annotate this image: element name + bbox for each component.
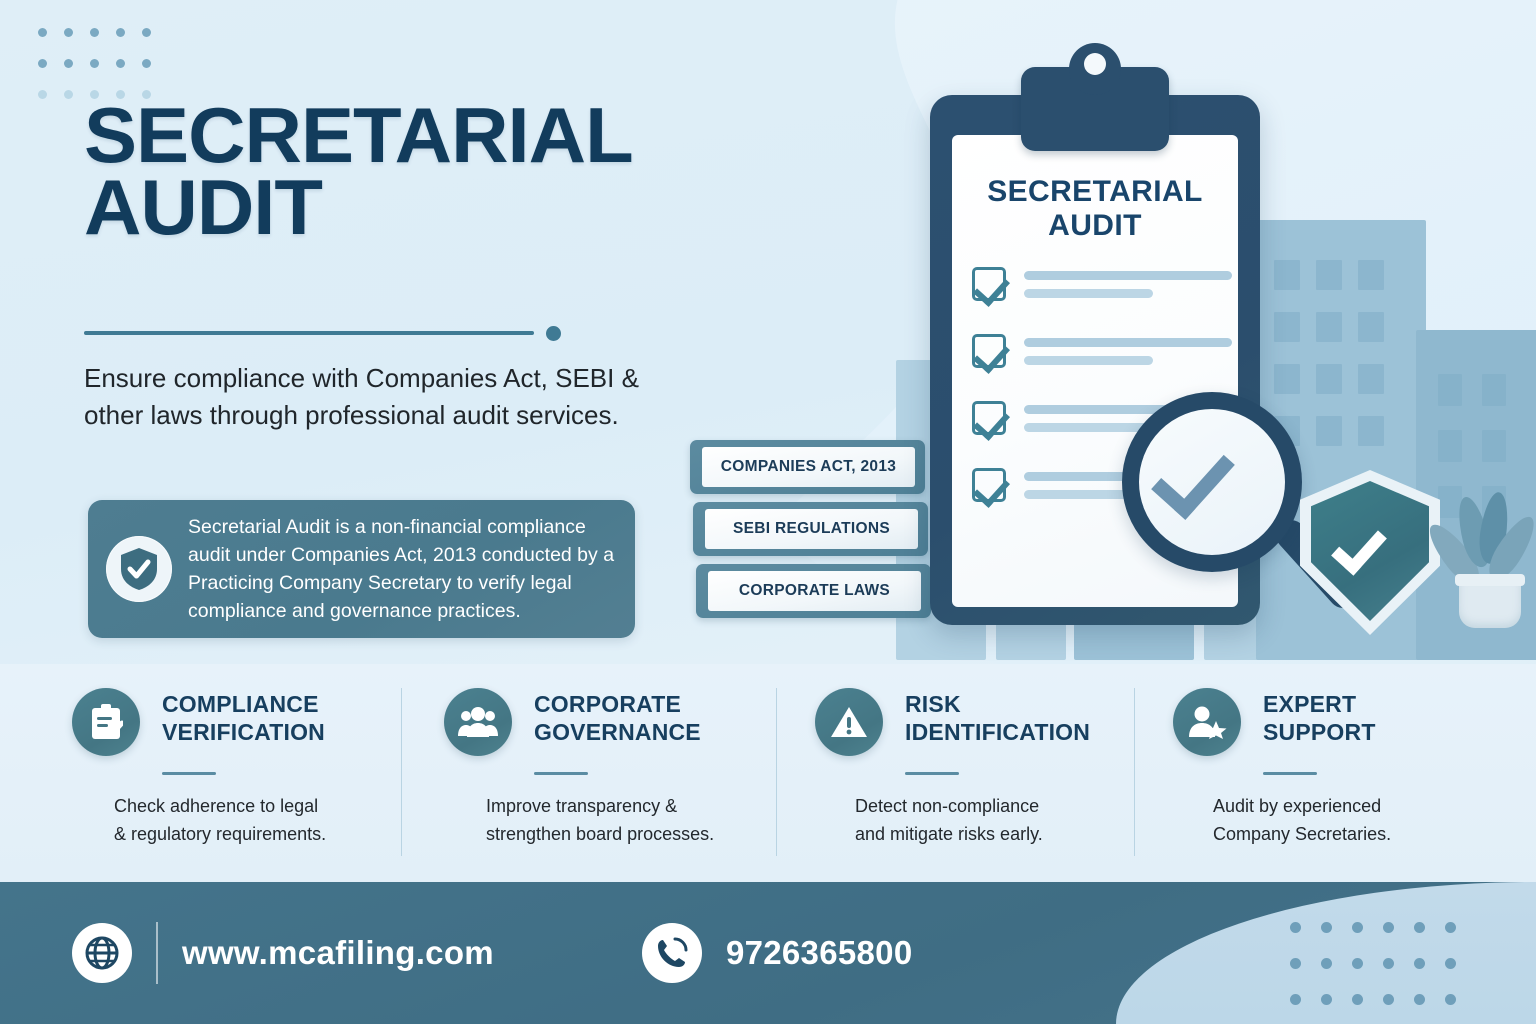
- footer-bar: www.mcafiling.com 9726365800: [0, 882, 1536, 1024]
- people-group-icon: [444, 688, 512, 756]
- plant-pot: [1459, 582, 1521, 628]
- title-divider-line: [84, 331, 534, 335]
- shield-check-icon: [106, 536, 172, 602]
- feature-description: Audit by experienced Company Secretaries…: [1213, 793, 1515, 849]
- feature-title: COMPLIANCE VERIFICATION: [162, 688, 325, 746]
- feature-card-compliance-verification: COMPLIANCE VERIFICATION Check adherence …: [0, 664, 402, 849]
- definition-callout-text: Secretarial Audit is a non-financial com…: [188, 513, 615, 625]
- feature-title-line1: CORPORATE: [534, 691, 681, 717]
- book-label: COMPANIES ACT, 2013: [721, 458, 896, 476]
- feature-title-line2: GOVERNANCE: [534, 719, 701, 745]
- subheadline: Ensure compliance with Companies Act, SE…: [84, 360, 644, 434]
- potted-plant-icon: [1435, 478, 1535, 628]
- footer-separator: [156, 922, 158, 984]
- title-divider: [84, 326, 554, 340]
- feature-title-line2: VERIFICATION: [162, 719, 325, 745]
- feature-desc-line2: strengthen board processes.: [486, 824, 714, 844]
- footer-phone[interactable]: 9726365800: [642, 923, 913, 983]
- footer-website[interactable]: www.mcafiling.com: [72, 922, 494, 984]
- feature-card-expert-support: EXPERT SUPPORT Audit by experienced Comp…: [1135, 664, 1515, 849]
- feature-title-line2: SUPPORT: [1263, 719, 1376, 745]
- poster-canvas: SECRETARIAL AUDIT Ensure compliance with…: [0, 0, 1536, 1024]
- feature-title-line1: COMPLIANCE: [162, 691, 319, 717]
- clipboard-title: SECRETARIAL AUDIT: [930, 175, 1260, 242]
- feature-desc-line1: Improve transparency &: [486, 796, 677, 816]
- feature-underline: [1263, 772, 1317, 775]
- book-item: COMPANIES ACT, 2013: [690, 440, 925, 494]
- checklist-placeholder-lines: [1024, 267, 1232, 307]
- clipboard-clamp-icon: [1021, 67, 1169, 151]
- feature-title-line1: RISK: [905, 691, 961, 717]
- checklist-row: [972, 334, 1232, 374]
- definition-callout: Secretarial Audit is a non-financial com…: [88, 500, 635, 638]
- feature-underline: [534, 772, 588, 775]
- checkbox-checked-icon: [972, 401, 1006, 435]
- feature-desc-line2: and mitigate risks early.: [855, 824, 1043, 844]
- decorative-dot-grid-footer: [1290, 922, 1476, 1024]
- clipboard-title-line1: SECRETARIAL: [987, 175, 1203, 208]
- feature-desc-line1: Detect non-compliance: [855, 796, 1039, 816]
- checklist-placeholder-lines: [1024, 334, 1232, 374]
- feature-title: CORPORATE GOVERNANCE: [534, 688, 701, 746]
- feature-title-line2: IDENTIFICATION: [905, 719, 1090, 745]
- footer-website-text[interactable]: www.mcafiling.com: [182, 934, 494, 972]
- feature-title: EXPERT SUPPORT: [1263, 688, 1376, 746]
- clipboard-check-icon: [72, 688, 140, 756]
- feature-card-risk-identification: RISK IDENTIFICATION Detect non-complianc…: [777, 664, 1135, 849]
- warning-triangle-icon: [815, 688, 883, 756]
- page-title: SECRETARIAL AUDIT: [84, 100, 633, 244]
- feature-title-line1: EXPERT: [1263, 691, 1356, 717]
- feature-description: Check adherence to legal & regulatory re…: [114, 793, 402, 849]
- feature-description: Improve transparency & strengthen board …: [486, 793, 777, 849]
- feature-strip: COMPLIANCE VERIFICATION Check adherence …: [0, 664, 1536, 882]
- book-item: CORPORATE LAWS: [696, 564, 931, 618]
- feature-desc-line2: Company Secretaries.: [1213, 824, 1391, 844]
- book-label: SEBI REGULATIONS: [733, 520, 890, 538]
- checkbox-checked-icon: [972, 468, 1006, 502]
- footer-phone-text[interactable]: 9726365800: [726, 934, 913, 972]
- feature-underline: [905, 772, 959, 775]
- globe-icon: [72, 923, 132, 983]
- feature-underline: [162, 772, 216, 775]
- feature-description: Detect non-compliance and mitigate risks…: [855, 793, 1135, 849]
- law-books-stack: COMPANIES ACT, 2013 SEBI REGULATIONS COR…: [690, 440, 935, 630]
- page-title-line2: AUDIT: [84, 163, 322, 251]
- magnifying-glass-check-icon: [1122, 392, 1302, 572]
- checkbox-checked-icon: [972, 334, 1006, 368]
- clipboard-title-line2: AUDIT: [1048, 209, 1142, 242]
- checklist-row: [972, 267, 1232, 307]
- feature-title: RISK IDENTIFICATION: [905, 688, 1090, 746]
- feature-desc-line2: & regulatory requirements.: [114, 824, 326, 844]
- user-star-icon: [1173, 688, 1241, 756]
- feature-desc-line1: Audit by experienced: [1213, 796, 1381, 816]
- phone-icon: [642, 923, 702, 983]
- book-item: SEBI REGULATIONS: [693, 502, 928, 556]
- feature-desc-line1: Check adherence to legal: [114, 796, 318, 816]
- feature-card-corporate-governance: CORPORATE GOVERNANCE Improve transparenc…: [402, 664, 777, 849]
- book-label: CORPORATE LAWS: [739, 582, 890, 600]
- checkbox-checked-icon: [972, 267, 1006, 301]
- shield-check-icon-large: [1300, 470, 1440, 635]
- title-divider-dot: [546, 326, 561, 341]
